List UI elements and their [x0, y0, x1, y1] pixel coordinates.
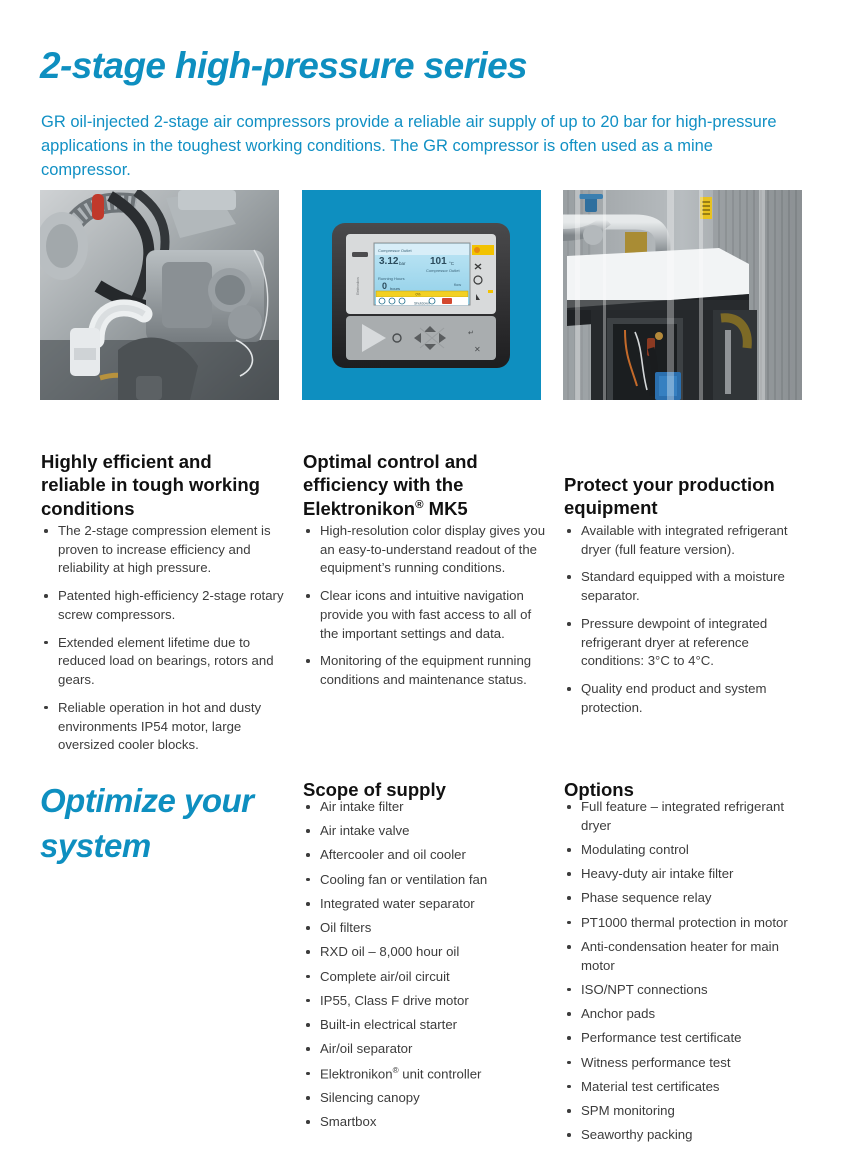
- list-item: Aftercooler and oil cooler: [303, 846, 547, 865]
- list-item: RXD oil – 8,000 hour oil: [303, 943, 547, 962]
- svg-text:✕: ✕: [474, 345, 481, 354]
- compressor-element-photo: [40, 190, 279, 400]
- registered-mark: ®: [393, 1066, 399, 1075]
- list-item: Air/oil separator: [303, 1040, 547, 1059]
- list-item: PT1000 thermal protection in motor: [564, 914, 814, 933]
- svg-text:Compressor Outlet: Compressor Outlet: [426, 268, 460, 273]
- list-item: Anchor pads: [564, 1005, 814, 1024]
- svg-text:flow: flow: [454, 282, 461, 287]
- svg-text:3.12: 3.12: [379, 256, 399, 267]
- list-item: Smartbox: [303, 1113, 547, 1132]
- list-item: Material test certificates: [564, 1078, 814, 1097]
- feature-list-2: High-resolution color display gives you …: [303, 522, 547, 699]
- brochure-page: 2-stage high-pressure series GR oil-inje…: [0, 0, 865, 1129]
- list-item: Built-in electrical starter: [303, 1016, 547, 1035]
- elektronikon-controller-illustration: Compressor Outlet 3.12 bar 101 °C Compre…: [302, 190, 541, 400]
- list-item: Silencing canopy: [303, 1089, 547, 1108]
- svg-text:Elektronikon: Elektronikon: [356, 277, 360, 295]
- list-item: Available with integrated refrigerant dr…: [564, 522, 808, 559]
- list-item: Patented high-efficiency 2-stage rotary …: [41, 587, 285, 624]
- feature-bullets-1: The 2-stage compression element is prove…: [41, 522, 285, 755]
- list-item: Air intake valve: [303, 822, 547, 841]
- scope-bullets: Air intake filter Air intake valve After…: [303, 798, 547, 1132]
- scope-of-supply-list: Air intake filter Air intake valve After…: [303, 798, 547, 1138]
- page-title: 2-stage high-pressure series: [40, 45, 800, 86]
- list-item: ISO/NPT connections: [564, 981, 814, 1000]
- list-item: IP55, Class F drive motor: [303, 992, 547, 1011]
- svg-text:0%: 0%: [415, 293, 420, 297]
- list-item: Modulating control: [564, 841, 814, 860]
- options-list: Full feature – integrated refrigerant dr…: [564, 798, 814, 1151]
- list-item: Reliable operation in hot and dusty envi…: [41, 699, 285, 755]
- feature-list-1: The 2-stage compression element is prove…: [41, 522, 285, 764]
- svg-text:hours: hours: [390, 286, 400, 291]
- svg-text:Shutdown: Shutdown: [414, 302, 430, 306]
- list-item: SPM monitoring: [564, 1102, 814, 1121]
- list-item: Standard equipped with a moisture separa…: [564, 568, 808, 605]
- options-bullets: Full feature – integrated refrigerant dr…: [564, 798, 814, 1145]
- svg-text:Compressor Outlet: Compressor Outlet: [378, 248, 412, 253]
- svg-text:°C: °C: [449, 261, 455, 266]
- svg-text:↵: ↵: [468, 330, 474, 337]
- registered-mark: ®: [415, 498, 423, 510]
- intro-paragraph: GR oil-injected 2-stage air compressors …: [41, 110, 796, 183]
- feature-heading-2: Optimal control and efficiency with the …: [303, 450, 538, 519]
- list-item: Complete air/oil circuit: [303, 968, 547, 987]
- feature-list-3: Available with integrated refrigerant dr…: [564, 522, 808, 727]
- feature-heading-3: Protect your production equipment: [564, 473, 809, 519]
- list-item: Pressure dewpoint of integrated refriger…: [564, 615, 808, 671]
- installation-illustration: [563, 190, 802, 400]
- feature-bullets-3: Available with integrated refrigerant dr…: [564, 522, 808, 718]
- list-item: Heavy-duty air intake filter: [564, 865, 814, 884]
- photo-band: Compressor Outlet 3.12 bar 101 °C Compre…: [0, 190, 865, 400]
- list-item: Extended element lifetime due to reduced…: [41, 634, 285, 690]
- list-item: High-resolution color display gives you …: [303, 522, 547, 578]
- list-item: Seaworthy packing: [564, 1126, 814, 1145]
- list-item: Quality end product and system protectio…: [564, 680, 808, 717]
- feature-heading-1: Highly efficient and reliable in tough w…: [41, 450, 276, 519]
- list-item: Clear icons and intuitive navigation pro…: [303, 587, 547, 643]
- elektronikon-controller-photo: Compressor Outlet 3.12 bar 101 °C Compre…: [302, 190, 541, 400]
- list-item: Cooling fan or ventilation fan: [303, 871, 547, 890]
- svg-text:101: 101: [430, 256, 447, 267]
- feature-bullets-2: High-resolution color display gives you …: [303, 522, 547, 690]
- list-item: Anti-condensation heater for main motor: [564, 938, 814, 975]
- list-item: Witness performance test: [564, 1054, 814, 1073]
- list-item: Elektronikon® unit controller: [303, 1065, 547, 1084]
- list-item: Monitoring of the equipment running cond…: [303, 652, 547, 689]
- list-item: Oil filters: [303, 919, 547, 938]
- list-item: Integrated water separator: [303, 895, 547, 914]
- list-item: Full feature – integrated refrigerant dr…: [564, 798, 814, 835]
- feature-heading-2-suffix: MK5: [424, 498, 468, 519]
- svg-text:bar: bar: [399, 261, 406, 266]
- list-item: The 2-stage compression element is prove…: [41, 522, 285, 578]
- list-item: Performance test certificate: [564, 1029, 814, 1048]
- list-item: Air intake filter: [303, 798, 547, 817]
- list-item: Phase sequence relay: [564, 889, 814, 908]
- installation-photo: [563, 190, 802, 400]
- optimize-heading: Optimize your system: [40, 779, 290, 869]
- compressor-element-illustration: [40, 190, 279, 400]
- svg-text:0: 0: [382, 281, 387, 291]
